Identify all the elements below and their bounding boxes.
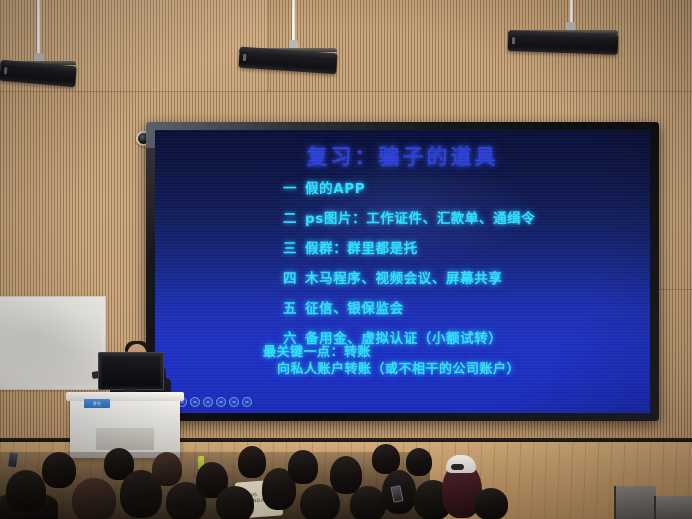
stage-step-upper xyxy=(614,486,656,519)
slide-item-text: ps图片：工作证件、汇款单、通缉令 xyxy=(305,207,535,227)
more-options-icon[interactable] xyxy=(242,397,252,407)
slide-item-text: 假的APP xyxy=(305,177,365,197)
list-item xyxy=(350,486,386,519)
speaker-pole-left xyxy=(37,0,40,58)
slide-item-3: 三 假群：群里都是托 xyxy=(283,237,643,257)
slide-item-text: 木马程序、视频会议、屏幕共享 xyxy=(305,267,502,287)
slide-bullet-list: 一 假的APP 二 ps图片：工作证件、汇款单、通缉令 三 假群：群里都是托 四… xyxy=(283,177,643,357)
list-item xyxy=(72,478,116,519)
slide-item-5: 五 征信、银保监会 xyxy=(283,297,643,317)
slide-footer-line-1: 最关键一点：转账 xyxy=(263,344,643,361)
slide-title: 复习：骗子的道具 xyxy=(155,141,650,171)
slide-item-1: 一 假的APP xyxy=(283,177,643,197)
speaker-pole-center xyxy=(292,0,295,44)
slide-item-4: 四 木马程序、视频会议、屏幕共享 xyxy=(283,267,643,287)
lectern-monitor xyxy=(98,352,164,390)
lecture-hall-photo: 复习：骗子的道具 一 假的APP 二 ps图片：工作证件、汇款单、通缉令 三 假… xyxy=(0,0,692,519)
slide-footer: 最关键一点：转账 向私人账户转账（或不相干的公司账户） xyxy=(263,344,643,378)
list-item xyxy=(474,488,508,519)
stage-step-lower xyxy=(654,496,692,519)
slide-item-text: 征信、银保监会 xyxy=(305,297,404,317)
list-item xyxy=(152,452,182,486)
led-display-bezel: 复习：骗子的道具 一 假的APP 二 ps图片：工作证件、汇款单、通缉令 三 假… xyxy=(146,122,659,421)
slide-item-number: 四 xyxy=(283,267,305,287)
next-slide-icon[interactable] xyxy=(190,397,200,407)
slide-item-number: 三 xyxy=(283,237,305,257)
zoom-icon[interactable] xyxy=(229,397,239,407)
lectern-control-panel[interactable] xyxy=(96,428,154,450)
lectern-monitor-screen xyxy=(102,356,160,386)
powerpoint-presenter-toolbar[interactable] xyxy=(177,397,252,407)
list-item xyxy=(42,452,76,488)
list-item xyxy=(238,446,266,478)
wall-seam-right xyxy=(659,289,692,290)
slide-item-number: 二 xyxy=(283,207,305,227)
list-item xyxy=(406,448,432,476)
slide-footer-line-2: 向私人账户转账（或不相干的公司账户） xyxy=(263,361,643,378)
wall-seam-vertical xyxy=(268,0,269,92)
white-cap xyxy=(446,455,476,473)
lectern-sign: 讲台 xyxy=(84,399,110,408)
slide-item-2: 二 ps图片：工作证件、汇款单、通缉令 xyxy=(283,207,643,227)
list-item xyxy=(216,486,254,519)
ceiling-speaker-right xyxy=(508,30,619,55)
list-item xyxy=(288,450,318,484)
slide-item-number: 五 xyxy=(283,297,305,317)
slide-item-number: 一 xyxy=(283,177,305,197)
pen-icon[interactable] xyxy=(203,397,213,407)
wall-seam-horizontal xyxy=(0,91,692,92)
whiteboard xyxy=(0,296,106,390)
presentation-screen[interactable]: 复习：骗子的道具 一 假的APP 二 ps图片：工作证件、汇款单、通缉令 三 假… xyxy=(155,130,650,413)
slide-grid-icon[interactable] xyxy=(216,397,226,407)
slide-item-text: 假群：群里都是托 xyxy=(305,237,418,257)
list-item xyxy=(6,470,46,512)
